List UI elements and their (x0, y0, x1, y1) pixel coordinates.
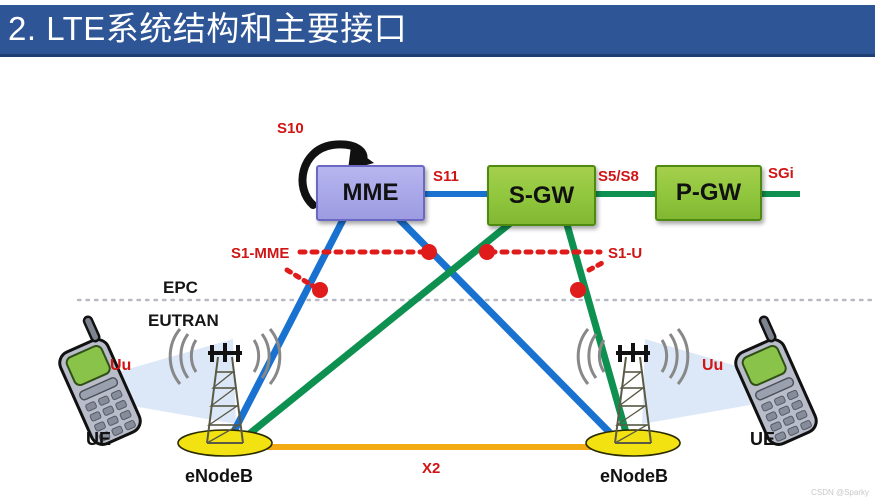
marker-s1mme-lower (312, 282, 328, 298)
label-sgi: SGi (768, 165, 794, 182)
marker-s1mme-upper (421, 244, 437, 260)
marker-s1u-lower (570, 282, 586, 298)
label-s10: S10 (277, 120, 304, 137)
watermark: CSDN @Sparky (811, 488, 869, 497)
label-eutran: EUTRAN (148, 311, 219, 331)
node-mme[interactable]: MME (316, 165, 425, 221)
node-pgw[interactable]: P-GW (655, 165, 762, 221)
label-s1-mme: S1-MME (231, 245, 289, 262)
node-sgw[interactable]: S-GW (487, 165, 596, 226)
label-epc: EPC (163, 278, 198, 298)
slide-canvas: 2. LTE系统结构和主要接口 (0, 0, 875, 500)
label-s11: S11 (433, 168, 459, 185)
label-ue-right: UE (750, 429, 775, 450)
diagram-connectors (0, 0, 875, 500)
label-ue-left: UE (86, 429, 111, 450)
node-mme-label: MME (343, 179, 399, 207)
label-s5-s8: S5/S8 (598, 168, 639, 185)
label-enodeb-right: eNodeB (600, 466, 668, 487)
uu-beam-right (642, 339, 757, 424)
marker-s1u-upper (479, 244, 495, 260)
label-uu-right: Uu (702, 357, 723, 375)
label-uu-left: Uu (110, 357, 131, 375)
callout-s1u-branch (589, 262, 604, 270)
label-enodeb-left: eNodeB (185, 466, 253, 487)
label-s1-u: S1-U (608, 245, 642, 262)
node-pgw-label: P-GW (676, 179, 741, 207)
node-sgw-label: S-GW (509, 182, 574, 210)
label-x2: X2 (422, 460, 440, 477)
